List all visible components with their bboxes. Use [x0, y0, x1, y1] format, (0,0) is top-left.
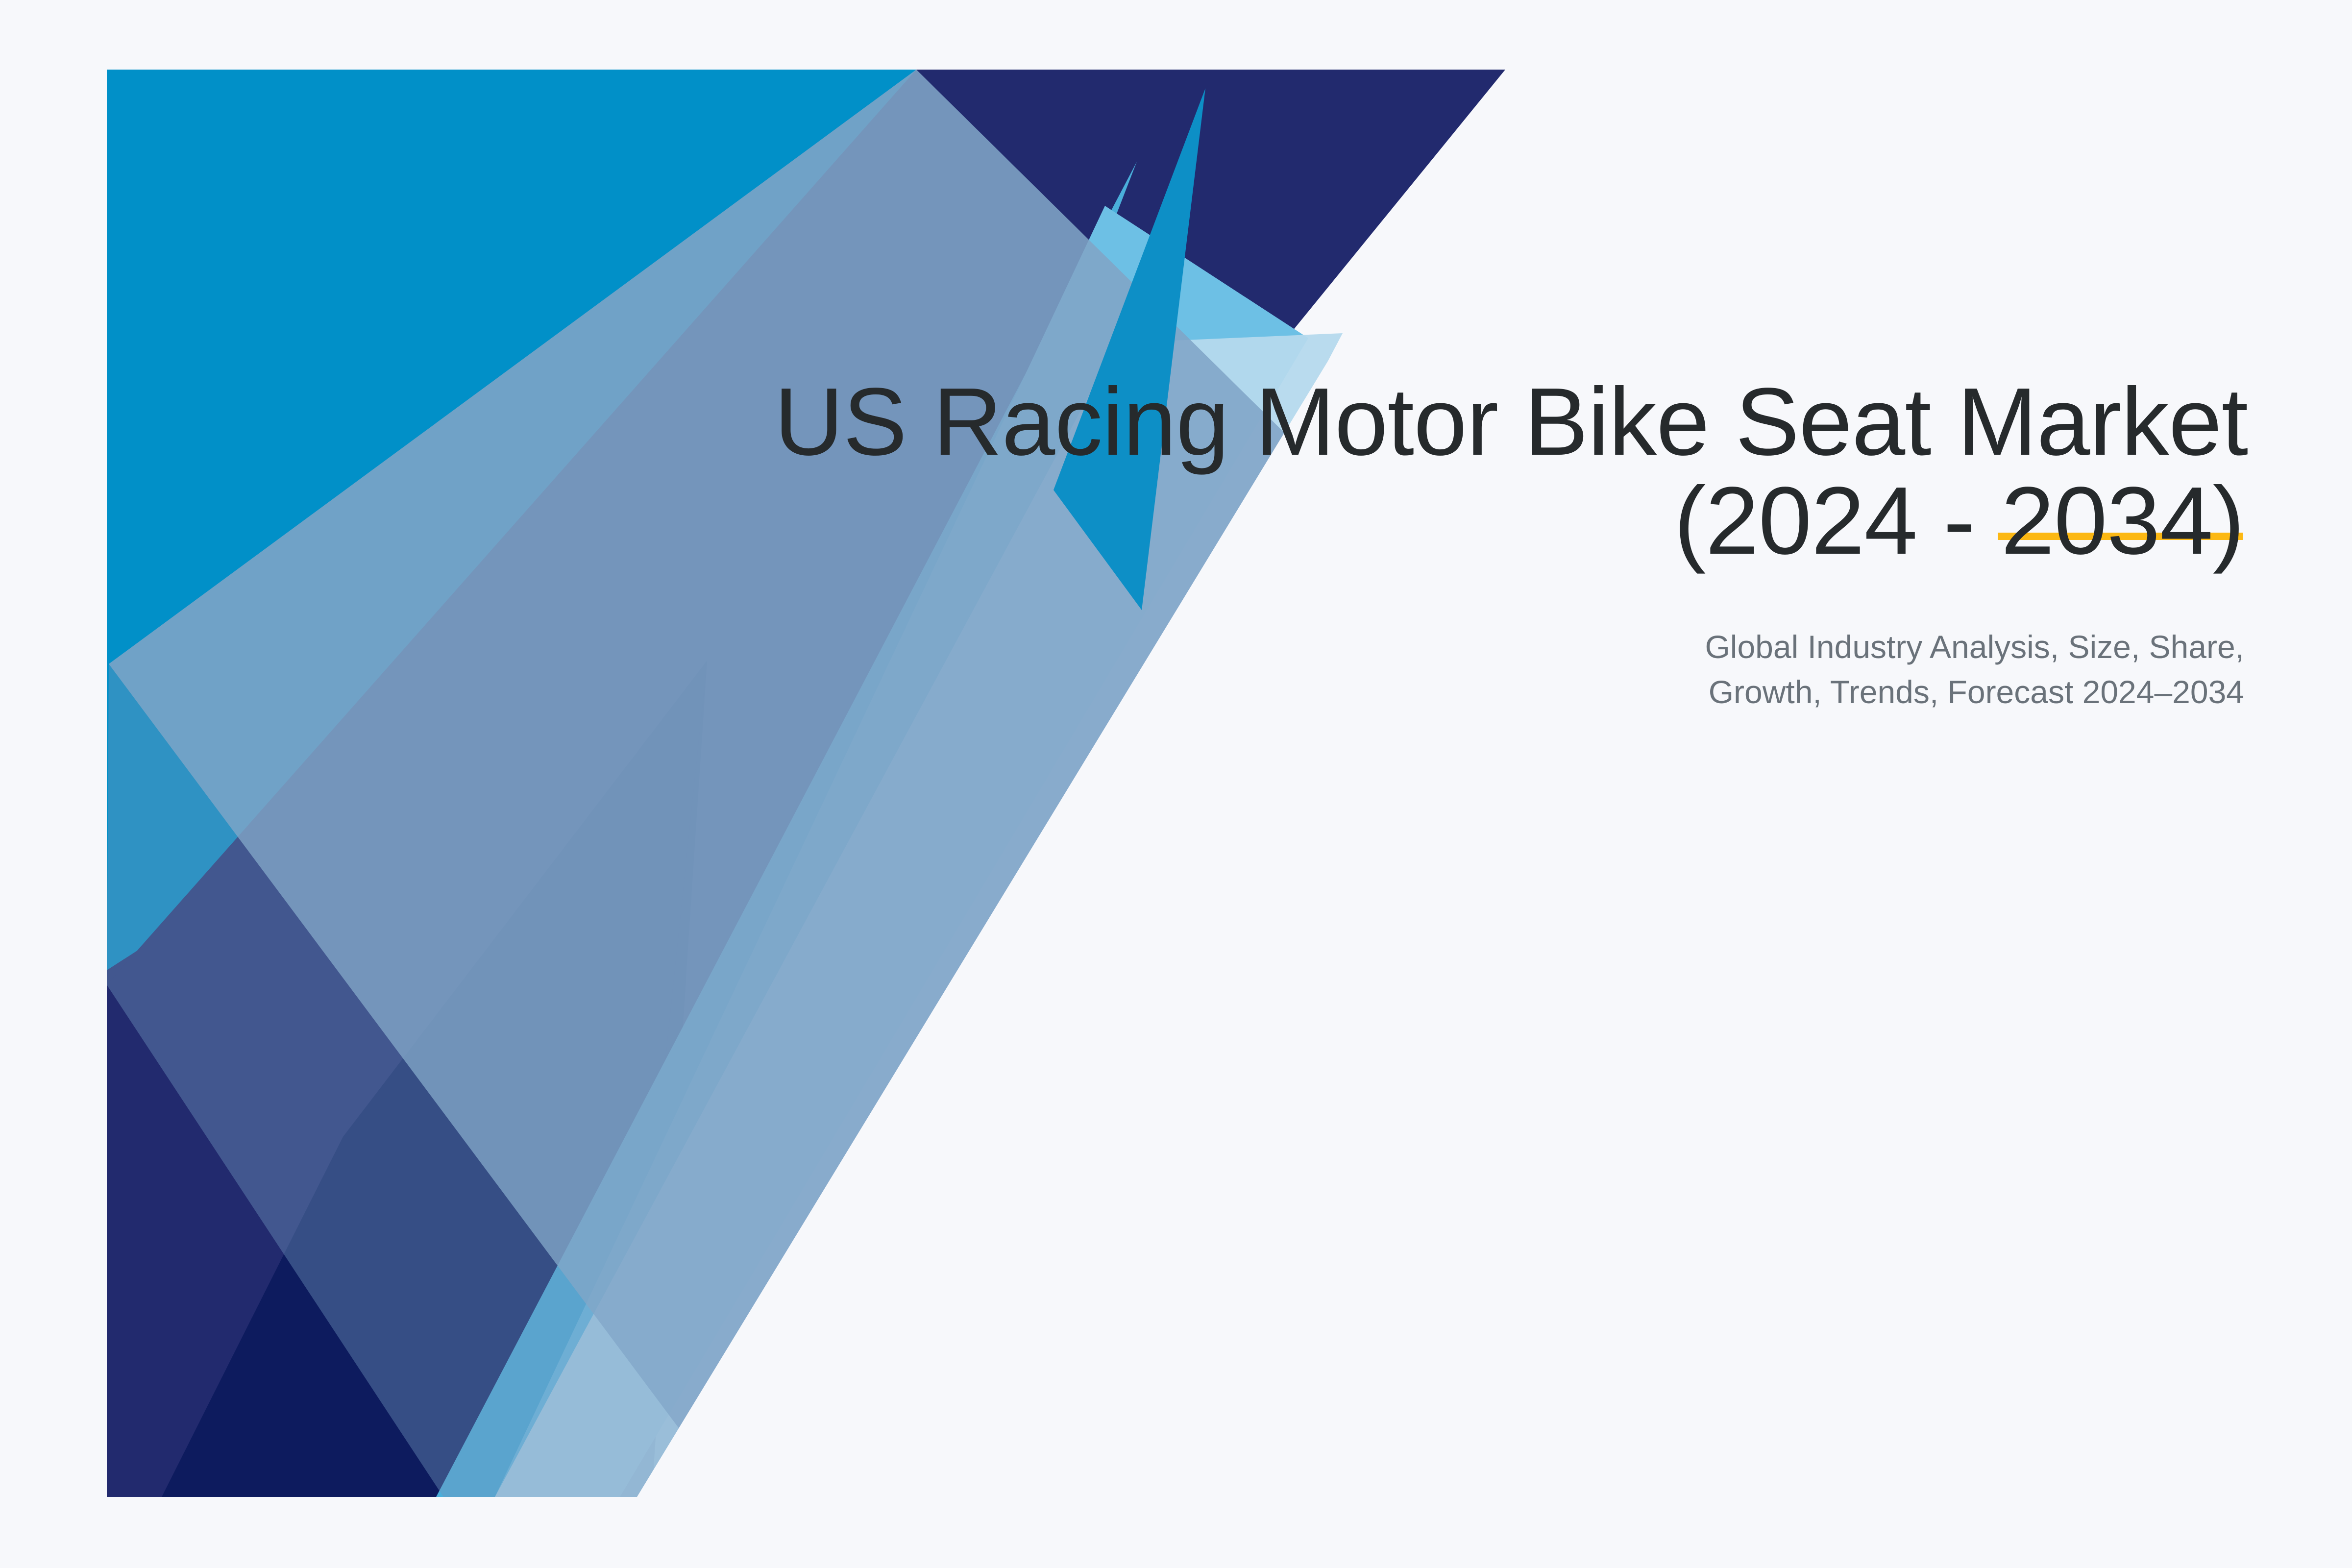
abstract-polygon-graphic	[0, 0, 2352, 1568]
page-title: US Racing Motor Bike Seat Market (2024 -…	[774, 372, 2244, 570]
report-cover-page: US Racing Motor Bike Seat Market (2024 -…	[0, 0, 2352, 1568]
title-line-1: US Racing Motor Bike Seat Market	[774, 372, 2244, 471]
cover-text-block: US Racing Motor Bike Seat Market (2024 -…	[774, 372, 2244, 715]
page-subtitle: Global Industry Analysis, Size, Share, G…	[774, 624, 2244, 715]
title-line-2: (2024 - 2034)	[774, 471, 2244, 570]
